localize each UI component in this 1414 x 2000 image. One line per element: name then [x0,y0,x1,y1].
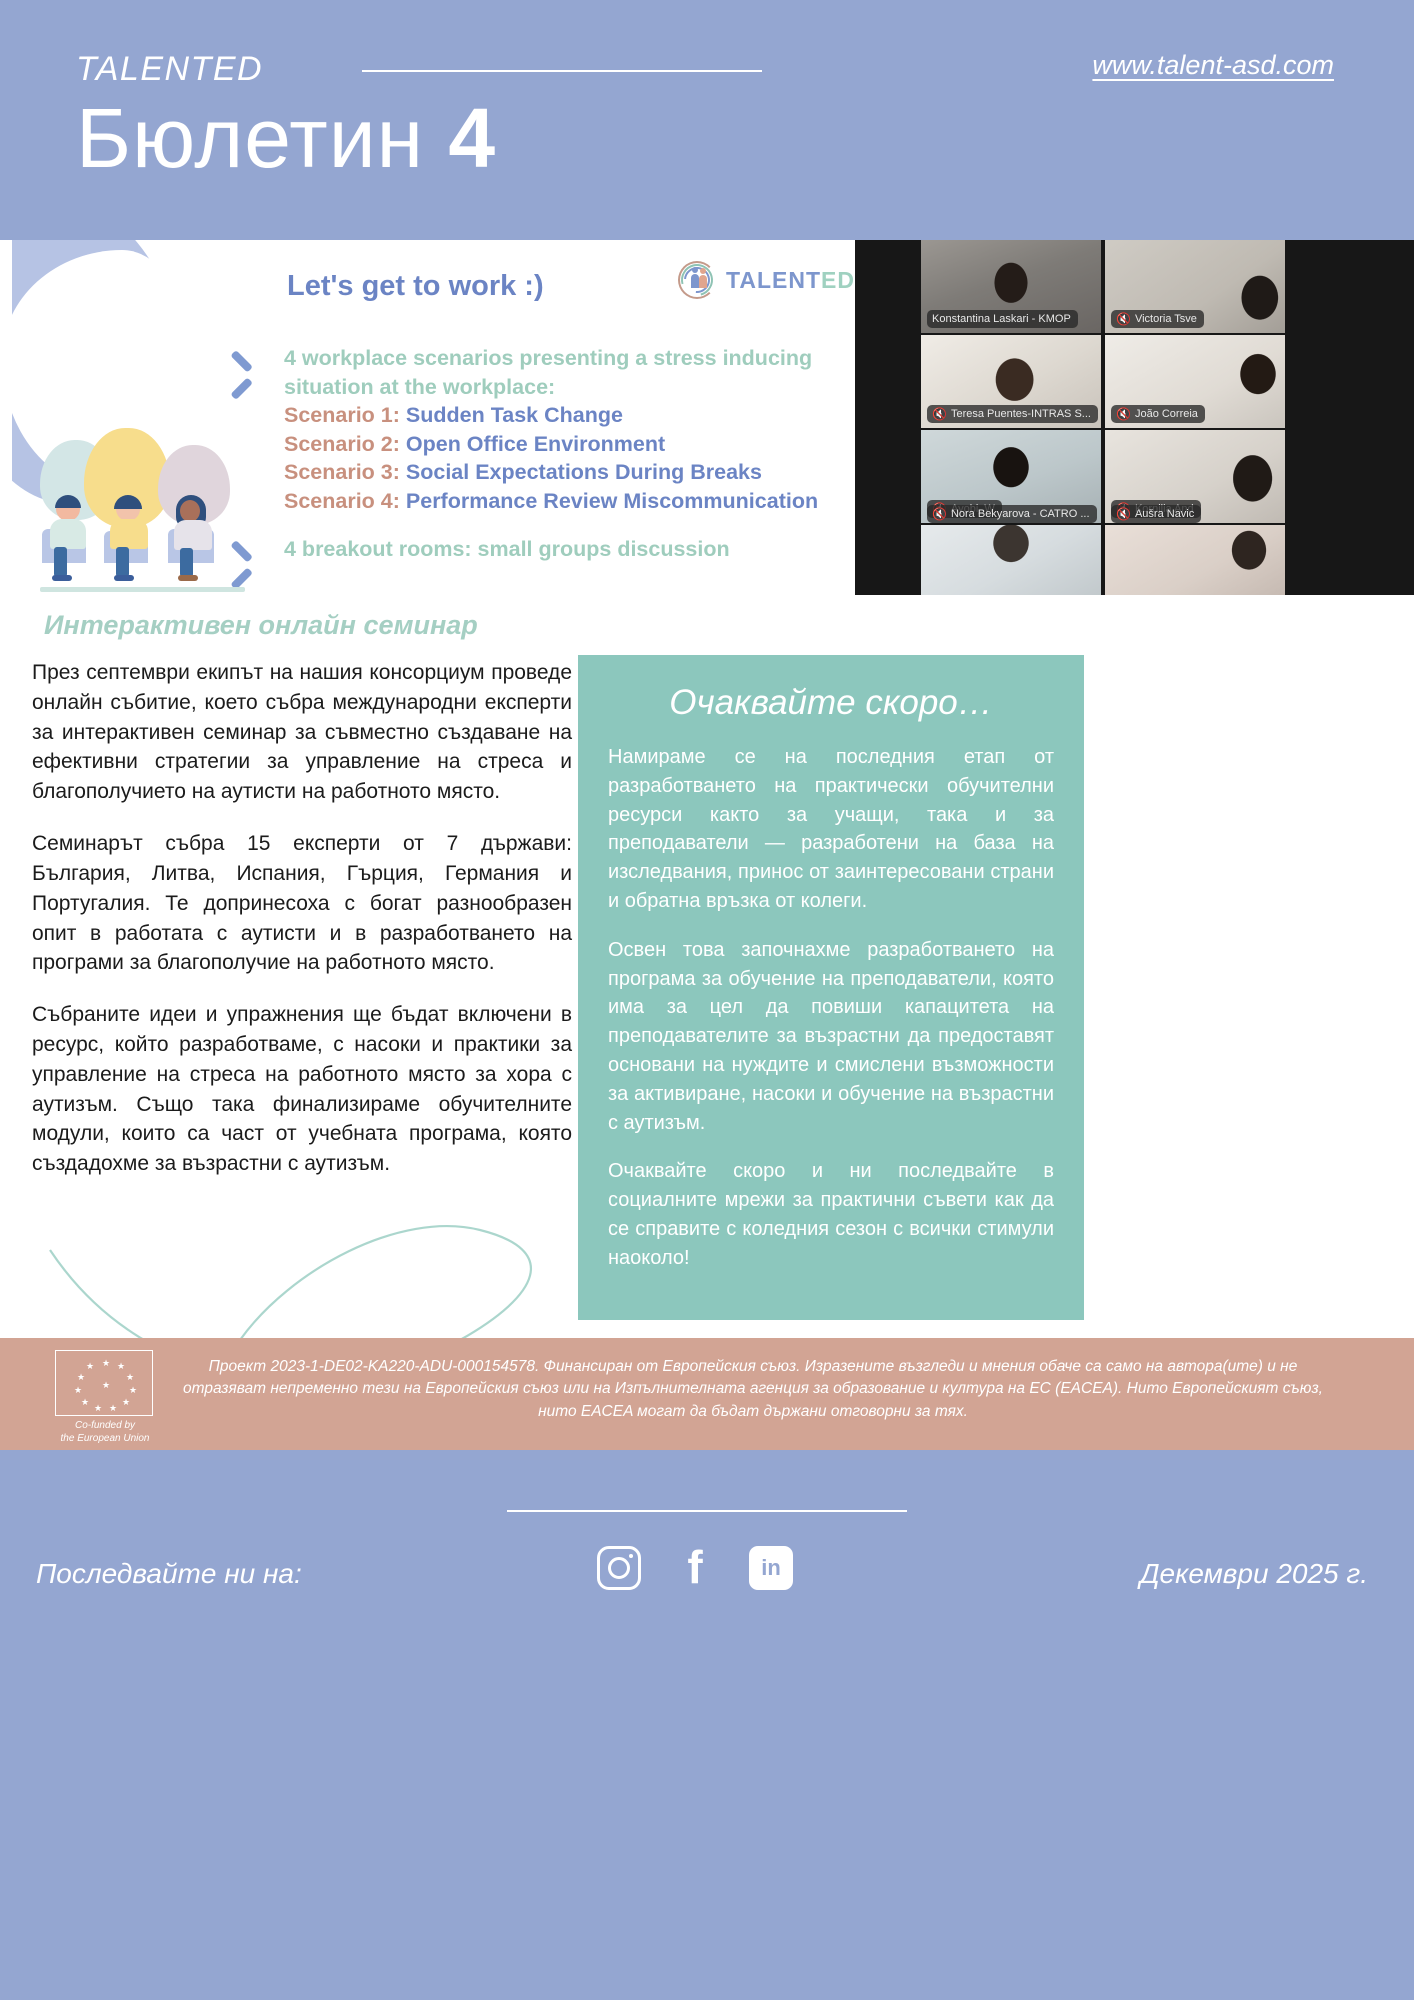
scenario-label-1: Scenario 1: [284,403,406,427]
follow-us-label: Последвайте ни на: [36,1558,302,1590]
mic-off-icon-4: 🔇 [1116,408,1131,420]
logo-person-peach-icon [699,275,707,288]
coming-soon-body: Намираме се на последния етап от разрабо… [608,743,1054,1273]
article-paragraph-3: Събраните идеи и упражнения ще бъдат вкл… [32,1000,572,1179]
person-2-hair [114,495,142,509]
eu-caption-line-1: Co-funded by [45,1420,165,1433]
video-tile-3[interactable]: 🔇 Teresa Puentes-INTRAS S... [921,335,1101,428]
scenario-value-4: Performance Review Miscommunication [406,489,818,513]
participant-name-8: 🔇 Aušra Navic [1111,505,1201,523]
video-name-row-7: 🔇 Nora Bekyarova - CATRO ... [921,500,1101,528]
social-links: f in [597,1546,793,1590]
linkedin-icon[interactable]: in [749,1546,793,1590]
article-paragraph-1: През септември екипът на нашия консорциу… [32,658,572,807]
video-tile-7[interactable] [921,525,1101,595]
scenario-value-3: Social Expectations During Breaks [406,460,762,484]
person-3-face [180,500,200,522]
scenario-label-4: Scenario 4: [284,489,406,513]
participant-name-7: 🔇 Nora Bekyarova - CATRO ... [927,505,1097,523]
eu-flag-caption: Co-funded by the European Union [45,1420,165,1445]
mic-off-icon-2: 🔇 [1116,313,1131,325]
page-header: TALENTED www.talent-asd.com Бюлетин 4 [0,0,1414,240]
scenario-value-1: Sudden Task Change [406,403,623,427]
slide-bullets: 4 workplace scenarios presenting a stres… [284,344,844,516]
person-3-shoe [178,575,198,581]
instagram-icon[interactable] [597,1546,641,1590]
participant-label-2: Victoria Tsve [1135,313,1197,325]
coming-soon-panel: Очаквайте скоро… Намираме се на последни… [578,655,1084,1320]
logo-text-part2: ED [821,267,855,293]
video-tile-8[interactable] [1105,525,1285,595]
eu-funding-bar: ★ ★ ★ ★ ★ ★ ★ ★ ★ ★ ★ ★ Co-funded by the… [0,1338,1414,1450]
video-name-row-8: 🔇 Aušra Navic [1105,500,1285,528]
person-2-torso [110,519,148,549]
participant-label-4: João Correia [1135,408,1198,420]
eu-disclaimer: Проект 2023-1-DE02-KA220-ADU-000154578. … [178,1356,1328,1423]
scenario-item-1: Scenario 1: Sudden Task Change [284,401,844,430]
person-1-hair [55,495,81,508]
illustration-floor [40,587,245,592]
eu-flag-stars: ★ ★ ★ ★ ★ ★ ★ ★ ★ ★ ★ ★ [56,1351,152,1415]
coming-soon-paragraph-3: Очаквайте скоро и ни последвайте в социа… [608,1157,1054,1272]
breakout-rooms-text: 4 breakout rooms: small groups discussio… [284,537,730,562]
bullet-intro-line-1: 4 workplace scenarios presenting a stres… [284,344,844,373]
coming-soon-paragraph-2: Освен това започнахме разработването на … [608,936,1054,1138]
coming-soon-paragraph-1: Намираме се на последния етап от разрабо… [608,743,1054,916]
slide-title: Let's get to work :) [287,270,544,303]
person-1-leg [54,547,67,577]
logo-text-part1: TALENT [726,267,821,293]
footer-divider [507,1510,907,1512]
participant-label-7: Nora Bekyarova - CATRO ... [951,508,1090,520]
brand-name: TALENTED [76,50,263,89]
people-illustration [40,495,245,595]
scenario-item-2: Scenario 2: Open Office Environment [284,430,844,459]
video-tile-2[interactable]: 🔇 Victoria Tsve [1105,240,1285,333]
video-person-7 [921,525,1101,595]
video-person-8 [1105,525,1285,595]
participant-name-3: 🔇 Teresa Puentes-INTRAS S... [927,405,1098,423]
participant-label-3: Teresa Puentes-INTRAS S... [951,408,1091,420]
mic-off-icon-8: 🔇 [1116,508,1131,520]
presentation-slide: Let's get to work :) TALENTED 4 workplac… [12,240,855,595]
eu-caption-line-2: the European Union [45,1433,165,1446]
website-link[interactable]: www.talent-asd.com [1092,50,1334,81]
person-2-shoe [114,575,134,581]
video-conference-grid: Konstantina Laskari - KMOP 🔇 Victoria Ts… [855,240,1414,595]
media-band: Let's get to work :) TALENTED 4 workplac… [12,240,1414,595]
mic-off-icon-7: 🔇 [932,508,947,520]
scenario-item-4: Scenario 4: Performance Review Miscommun… [284,487,844,516]
participant-label-1: Konstantina Laskari - KMOP [932,313,1071,325]
talented-logo: TALENTED [677,260,855,300]
person-3-leg [180,548,193,577]
page-title: Бюлетин 4 [76,96,496,180]
participant-name-4: 🔇 João Correia [1111,405,1205,423]
person-2-leg [116,547,129,577]
person-3-torso [174,520,212,550]
article-paragraph-2: Семинарът събра 15 експерти от 7 държави… [32,829,572,978]
scenario-value-2: Open Office Environment [406,432,665,456]
page-title-text: Бюлетин [76,91,448,185]
participant-name-1: Konstantina Laskari - KMOP [927,310,1078,328]
coming-soon-title: Очаквайте скоро… [608,683,1054,723]
scenario-label-2: Scenario 2: [284,432,406,456]
talented-logo-text: TALENTED [726,267,855,294]
video-tile-1[interactable]: Konstantina Laskari - KMOP [921,240,1101,333]
article-body: През септември екипът на нашия консорциу… [32,658,572,1201]
video-tile-4[interactable]: 🔇 João Correia [1105,335,1285,428]
facebook-icon[interactable]: f [673,1546,717,1590]
person-1-shoe [52,575,72,581]
talented-logo-mark [677,260,717,300]
person-1-torso [50,519,86,549]
scenario-label-3: Scenario 3: [284,460,406,484]
bullet-intro-line-2: situation at the workplace: [284,373,844,402]
participant-label-8: Aušra Navic [1135,508,1194,520]
logo-person-blue-icon [691,274,699,288]
chevron-right-icon-1 [234,348,264,394]
section-heading: Интерактивен онлайн семинар [44,610,478,641]
mic-off-icon-3: 🔇 [932,408,947,420]
footer-bar: Последвайте ни на: f in Декември 2025 г. [0,1450,1414,2000]
scenario-item-3: Scenario 3: Social Expectations During B… [284,458,844,487]
header-divider [362,70,762,72]
issue-date: Декември 2025 г. [1140,1558,1368,1590]
participant-name-2: 🔇 Victoria Tsve [1111,310,1204,328]
eu-flag-icon: ★ ★ ★ ★ ★ ★ ★ ★ ★ ★ ★ ★ [55,1350,153,1416]
page-title-number: 4 [448,91,496,185]
